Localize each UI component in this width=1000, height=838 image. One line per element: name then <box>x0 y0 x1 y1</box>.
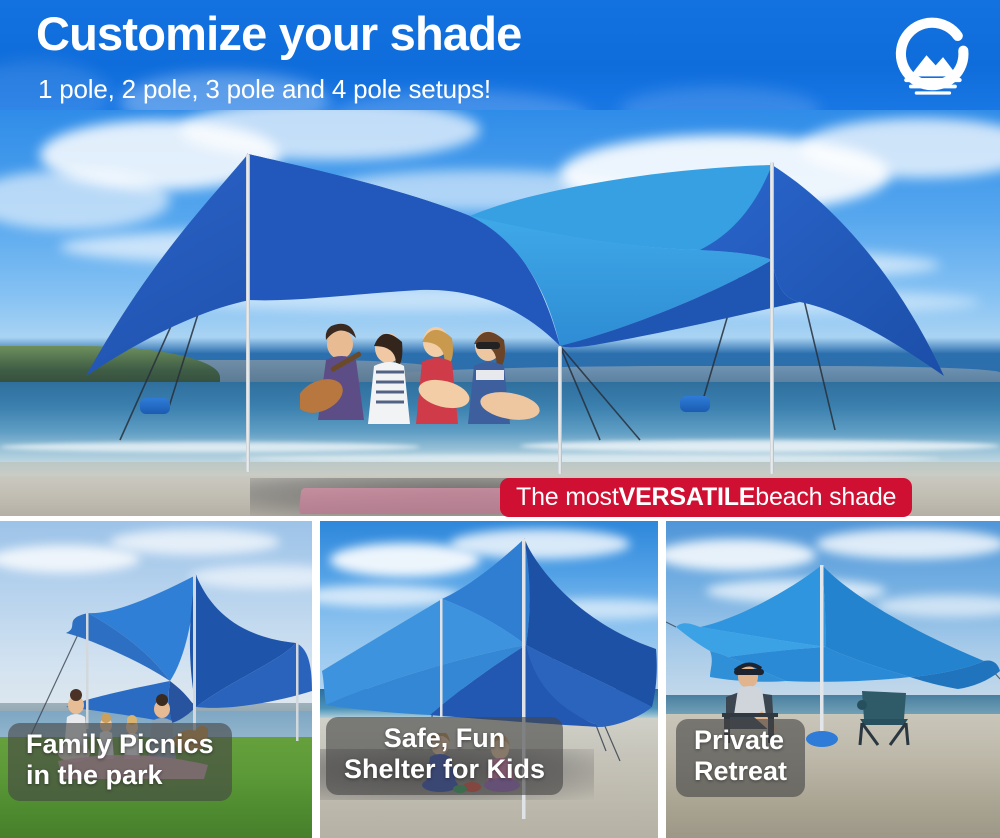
versatile-banner: The most VERSATILE beach shade <box>500 478 912 517</box>
group-of-people <box>300 310 560 450</box>
header-banner: Customize your shade 1 pole, 2 pole, 3 p… <box>0 0 1000 118</box>
page-title: Customize your shade <box>36 9 521 60</box>
panel-family-picnics: Family Picnics in the park <box>0 521 312 838</box>
canopy-pole <box>246 154 250 472</box>
mountain-sun-circle-logo <box>886 12 978 104</box>
panel-safe-fun-kids: Safe, Fun Shelter for Kids <box>320 521 658 838</box>
panel-caption-line1: Safe, Fun <box>344 723 545 754</box>
panel-row: Family Picnics in the park <box>0 521 1000 838</box>
page-subtitle: 1 pole, 2 pole, 3 pole and 4 pole setups… <box>38 74 491 105</box>
panel-private-retreat: Private Retreat <box>666 521 1000 838</box>
panel-caption-line1: Private <box>694 725 787 756</box>
banner-suffix: beach shade <box>755 483 896 512</box>
product-infographic: Customize your shade 1 pole, 2 pole, 3 p… <box>0 0 1000 838</box>
panel-caption-line2: in the park <box>26 760 214 791</box>
banner-prefix: The most <box>516 483 619 512</box>
panel-caption-box: Family Picnics in the park <box>8 723 232 801</box>
sand-anchor-bag <box>140 398 170 414</box>
banner-emphasis: VERSATILE <box>619 483 756 512</box>
sand-anchor-bag <box>680 396 710 412</box>
panel-caption-line2: Retreat <box>694 756 787 787</box>
panel-caption-box: Safe, Fun Shelter for Kids <box>326 717 563 795</box>
empty-camping-chair <box>854 685 914 747</box>
canopy-pole <box>770 162 774 474</box>
hero-image-beach-shelter: Spacious Shelter for Group Gatherings <box>0 110 1000 516</box>
panel-caption-line2: Shelter for Kids <box>344 754 545 785</box>
panel-caption-line1: Family Picnics <box>26 729 214 760</box>
panel-caption-box: Private Retreat <box>676 719 805 797</box>
